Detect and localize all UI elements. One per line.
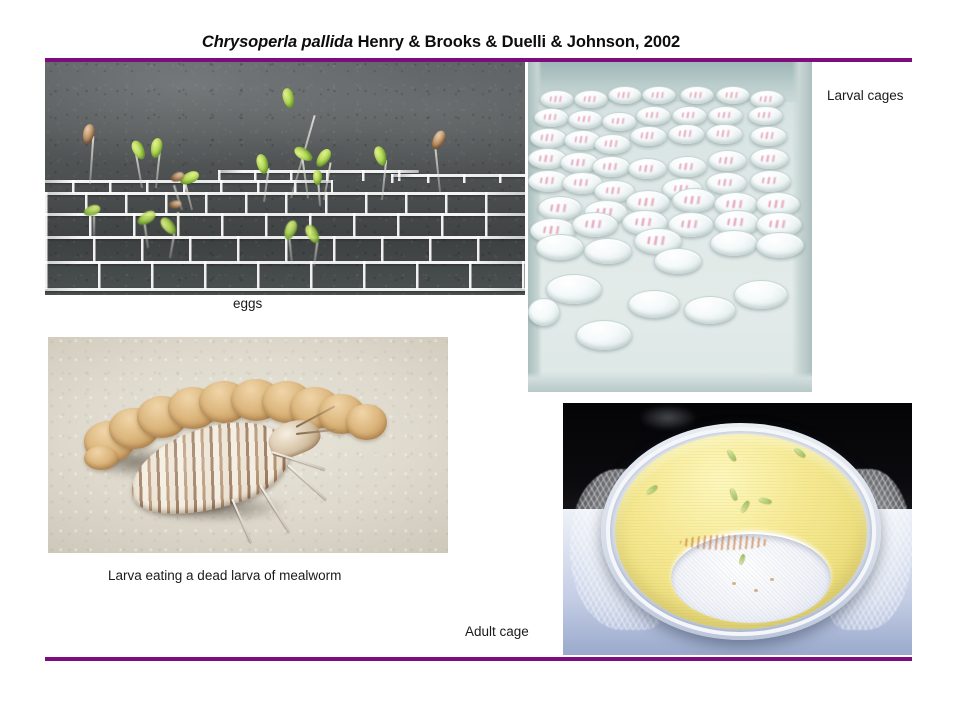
caption-adult-cage: Adult cage bbox=[465, 624, 529, 639]
backdrop-highlight bbox=[640, 405, 696, 430]
caption-larval-cages: Larval cages bbox=[827, 88, 904, 103]
caption-eggs: eggs bbox=[233, 296, 262, 311]
rearing-cup bbox=[668, 156, 707, 177]
rearing-cup bbox=[540, 90, 574, 108]
egg-stalk-12 bbox=[87, 202, 99, 236]
rearing-cup bbox=[706, 172, 747, 194]
adult-lacewing bbox=[740, 500, 751, 513]
adult-lacewing bbox=[794, 446, 807, 458]
cage-yellow-lining bbox=[615, 434, 866, 629]
species-name: Chrysoperla pallida bbox=[202, 33, 353, 51]
rearing-cup bbox=[636, 106, 671, 125]
rearing-cup bbox=[630, 126, 667, 146]
rearing-cup bbox=[716, 86, 750, 104]
page-title: Chrysoperla pallida Henry & Brooks & Due… bbox=[45, 33, 837, 52]
rearing-cup bbox=[750, 148, 789, 169]
adult-lacewing bbox=[645, 483, 658, 494]
rearing-cup bbox=[684, 296, 736, 324]
rearing-cup bbox=[530, 128, 567, 148]
rearing-cup bbox=[680, 86, 714, 104]
rearing-cup bbox=[750, 170, 791, 192]
rearing-cup bbox=[534, 108, 569, 127]
rearing-cup bbox=[536, 234, 584, 260]
egg-stalk-16 bbox=[307, 224, 319, 266]
tray-wall-bottom bbox=[528, 372, 812, 392]
rearing-cup bbox=[734, 280, 788, 309]
egg-stalk-2 bbox=[135, 140, 147, 188]
rearing-cup bbox=[748, 106, 783, 125]
egg-stalk-13 bbox=[141, 208, 153, 248]
lacewing-larva bbox=[128, 419, 328, 531]
rearing-cup bbox=[576, 320, 632, 350]
egg-stalk-18 bbox=[171, 198, 183, 236]
egg-stalk-1 bbox=[83, 124, 95, 184]
larva-leg bbox=[259, 485, 291, 534]
adult-lacewing bbox=[727, 449, 738, 462]
rearing-cup bbox=[708, 106, 743, 125]
rearing-cup bbox=[672, 188, 716, 212]
rearing-cup bbox=[584, 238, 632, 264]
egg-stalk-5 bbox=[257, 154, 269, 202]
rearing-cup bbox=[608, 86, 642, 104]
egg-stalk-3 bbox=[149, 138, 161, 188]
adult-lacewing bbox=[738, 553, 745, 565]
larva-abdomen bbox=[120, 407, 300, 530]
egg-stalk-7 bbox=[301, 144, 313, 198]
floor-speck bbox=[754, 589, 758, 592]
adult-cage-photo bbox=[563, 403, 912, 655]
rearing-cup bbox=[628, 158, 667, 179]
rearing-cup bbox=[750, 126, 787, 146]
adult-lacewing bbox=[758, 497, 772, 505]
egg-stalk-6 bbox=[284, 88, 296, 198]
egg-stalk-15 bbox=[285, 220, 297, 264]
rearing-cup bbox=[710, 230, 758, 256]
rearing-cup bbox=[672, 106, 707, 125]
rearing-cup bbox=[546, 274, 602, 304]
larva-eating-mealworm-photo bbox=[48, 337, 448, 553]
species-authority: Henry & Brooks & Duelli & Johnson, 2002 bbox=[358, 33, 681, 51]
slide-canvas: Chrysoperla pallida Henry & Brooks & Due… bbox=[0, 0, 960, 720]
rearing-cup bbox=[594, 134, 631, 154]
caption-larva-eating: Larva eating a dead larva of mealworm bbox=[108, 568, 341, 583]
egg-stalk-10 bbox=[375, 146, 387, 200]
eggs-on-mesh-photo bbox=[45, 62, 525, 295]
rearing-cup bbox=[592, 156, 631, 177]
rearing-cup bbox=[602, 112, 637, 131]
rearing-cup bbox=[706, 124, 743, 144]
rearing-cup bbox=[628, 290, 680, 318]
floor-speck bbox=[732, 582, 736, 585]
larva-leg bbox=[287, 464, 327, 500]
rearing-cup bbox=[574, 90, 608, 108]
rearing-cup bbox=[756, 232, 804, 258]
adult-lacewing bbox=[731, 488, 740, 502]
floor-debris-band bbox=[680, 535, 768, 549]
cage-mesh-floor bbox=[671, 532, 832, 624]
rearing-cup bbox=[572, 212, 618, 237]
rearing-cup bbox=[642, 86, 676, 104]
cage-cylinder bbox=[601, 423, 880, 640]
rearing-cup bbox=[668, 124, 705, 144]
rearing-cup bbox=[568, 110, 603, 129]
divider-bottom bbox=[45, 657, 912, 661]
floor-speck bbox=[770, 578, 774, 581]
larval-cages-photo bbox=[528, 62, 812, 392]
egg-stalk-11 bbox=[433, 130, 445, 192]
rearing-cup bbox=[654, 248, 702, 274]
egg-stalk-9 bbox=[313, 170, 325, 206]
rearing-cup bbox=[708, 150, 747, 171]
rearing-cup bbox=[528, 298, 560, 326]
